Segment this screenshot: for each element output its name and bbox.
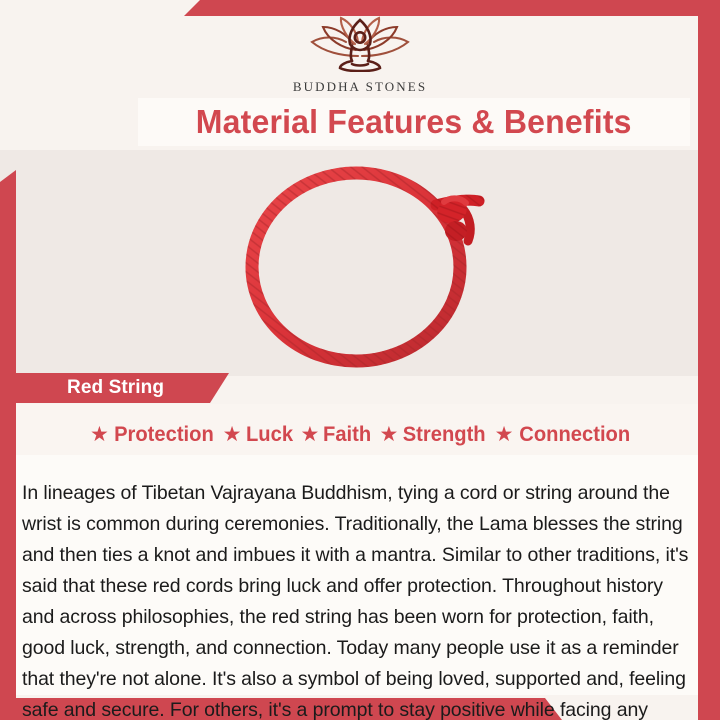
- product-label: Red String: [67, 377, 164, 399]
- lotus-meditation-icon: [302, 16, 418, 77]
- material-features-infographic: BUDDHA STONES Material Features & Benefi…: [0, 0, 720, 720]
- description-text: In lineages of Tibetan Vajrayana Buddhis…: [22, 478, 694, 720]
- page-title: Material Features & Benefits: [196, 103, 632, 141]
- title-banner: Material Features & Benefits: [138, 98, 690, 146]
- star-icon: ★: [223, 424, 242, 445]
- benefit-item-strength: ★ Strength: [380, 423, 488, 447]
- star-icon: ★: [90, 424, 109, 445]
- benefit-label: Faith: [323, 423, 371, 447]
- brand-name: BUDDHA STONES: [293, 79, 427, 95]
- star-icon: ★: [380, 424, 399, 445]
- benefit-item-luck: ★ Luck: [223, 423, 294, 447]
- star-icon: ★: [495, 424, 514, 445]
- benefit-label: Connection: [519, 423, 630, 447]
- benefit-item-protection: ★ Protection: [90, 423, 216, 447]
- benefit-label: Luck: [245, 423, 292, 447]
- brand-logo: BUDDHA STONES: [0, 16, 720, 94]
- benefits-list: ★ Protection ★ Luck ★ Faith ★ Strength ★…: [16, 418, 706, 452]
- product-image: [0, 150, 720, 376]
- product-label-ribbon: Red String: [14, 373, 229, 403]
- benefit-item-faith: ★ Faith: [301, 423, 373, 447]
- benefit-label: Strength: [403, 423, 486, 447]
- benefit-item-connection: ★ Connection: [495, 423, 632, 447]
- benefit-label: Protection: [114, 423, 214, 447]
- star-icon: ★: [301, 424, 320, 445]
